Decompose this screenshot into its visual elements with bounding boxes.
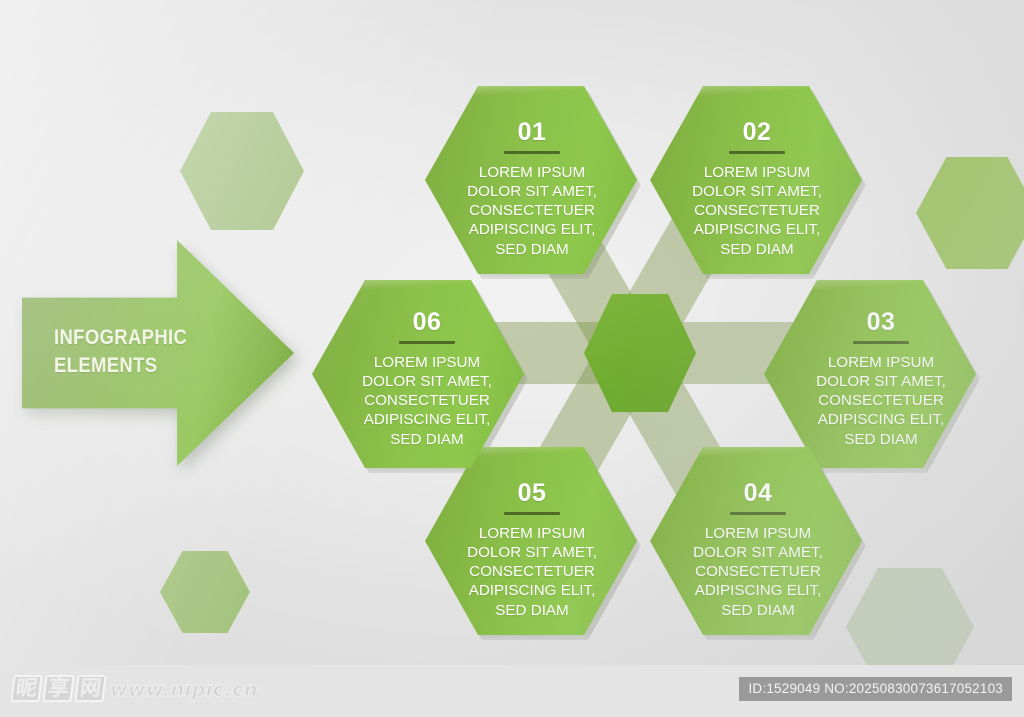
step-number-03: 03 bbox=[867, 310, 896, 335]
infographic-elements-arrow[interactable]: INFOGRAPHIC ELEMENTS bbox=[22, 240, 294, 466]
step-number-02: 02 bbox=[743, 120, 772, 145]
step-text-06: LOREM IPSUM DOLOR SIT AMET, CONSECTETUER… bbox=[362, 353, 492, 449]
step-text-03: LOREM IPSUM DOLOR SIT AMET, CONSECTETUER… bbox=[816, 353, 946, 449]
infographic-canvas: 01 LOREM IPSUM DOLOR SIT AMET, CONSECTET… bbox=[0, 0, 1024, 717]
logo-char-2: 享 bbox=[42, 675, 74, 702]
step-rule-02 bbox=[729, 151, 785, 154]
step-number-06: 06 bbox=[413, 310, 442, 335]
step-rule-03 bbox=[853, 341, 909, 344]
step-number-05: 05 bbox=[518, 481, 547, 506]
step-rule-01 bbox=[504, 151, 560, 154]
step-text-02: LOREM IPSUM DOLOR SIT AMET, CONSECTETUER… bbox=[692, 163, 822, 259]
nipic-logo: 昵 享 网 bbox=[12, 675, 105, 702]
watermark-bar: 昵 享 网 www.nipic.cn ID:1529049 NO:2025083… bbox=[0, 665, 1024, 717]
step-rule-05 bbox=[504, 512, 560, 515]
step-text-04: LOREM IPSUM DOLOR SIT AMET, CONSECTETUER… bbox=[693, 524, 823, 620]
watermark-id-badge: ID:1529049 NO:20250830073617052103 bbox=[739, 677, 1012, 701]
step-text-05: LOREM IPSUM DOLOR SIT AMET, CONSECTETUER… bbox=[467, 524, 597, 620]
step-number-04: 04 bbox=[744, 481, 773, 506]
watermark-url: www.nipic.cn bbox=[110, 679, 258, 701]
arrow-label: INFOGRAPHIC ELEMENTS bbox=[54, 324, 217, 379]
logo-char-3: 网 bbox=[74, 675, 106, 702]
step-text-01: LOREM IPSUM DOLOR SIT AMET, CONSECTETUER… bbox=[467, 163, 597, 259]
step-number-01: 01 bbox=[518, 120, 547, 145]
step-rule-06 bbox=[399, 341, 455, 344]
logo-char-1: 昵 bbox=[10, 675, 42, 702]
step-rule-04 bbox=[730, 512, 786, 515]
